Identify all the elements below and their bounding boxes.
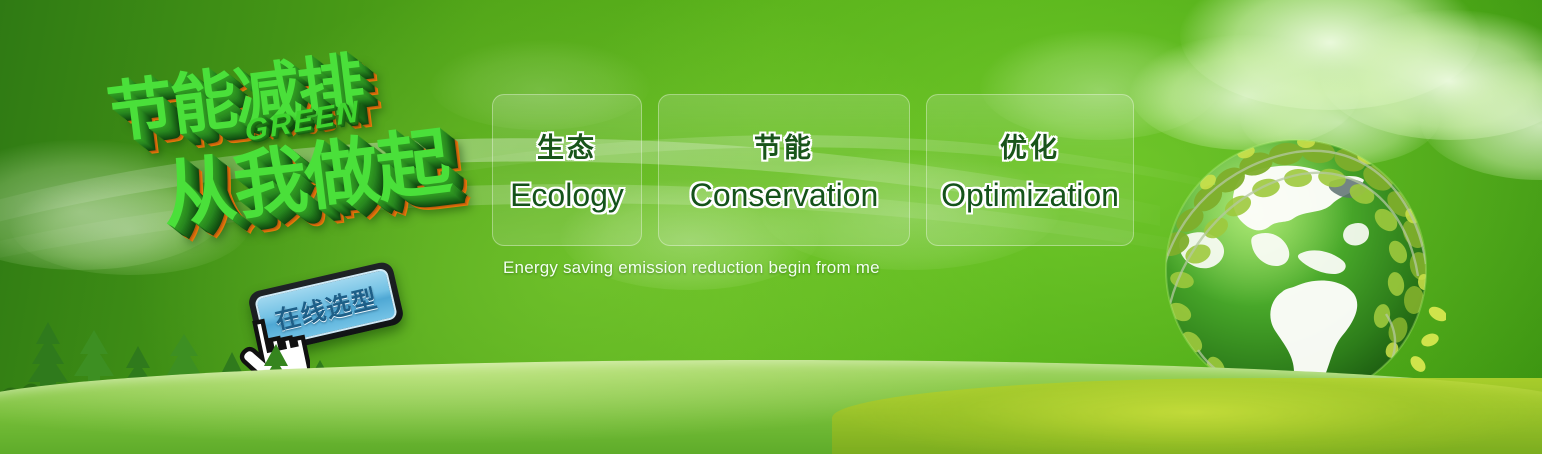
feature-card-title-cn: 生态	[537, 126, 597, 165]
feature-card-title-en: Optimization	[941, 177, 1119, 214]
feature-card-title-en: Ecology	[510, 177, 624, 214]
eco-promo-banner: 节能减排 GREEN 从我做起 在线选型 生态 Ecology 节能 Conse…	[0, 0, 1542, 454]
feature-card-title-cn: 优化	[1000, 126, 1060, 165]
feature-card-list: 生态 Ecology 节能 Conservation 优化 Optimizati…	[492, 94, 1134, 246]
banner-tagline: Energy saving emission reduction begin f…	[503, 258, 880, 278]
feature-card-title-cn: 节能	[754, 126, 814, 165]
feature-card-title-en: Conservation	[690, 177, 879, 214]
cloud-shape	[1320, 10, 1542, 140]
feature-card-ecology[interactable]: 生态 Ecology	[492, 94, 642, 246]
feature-card-optimization[interactable]: 优化 Optimization	[926, 94, 1134, 246]
headline-3d-text: 节能减排 GREEN 从我做起	[83, 11, 509, 298]
feature-card-conservation[interactable]: 节能 Conservation	[658, 94, 910, 246]
cloud-shape	[1180, 0, 1480, 110]
